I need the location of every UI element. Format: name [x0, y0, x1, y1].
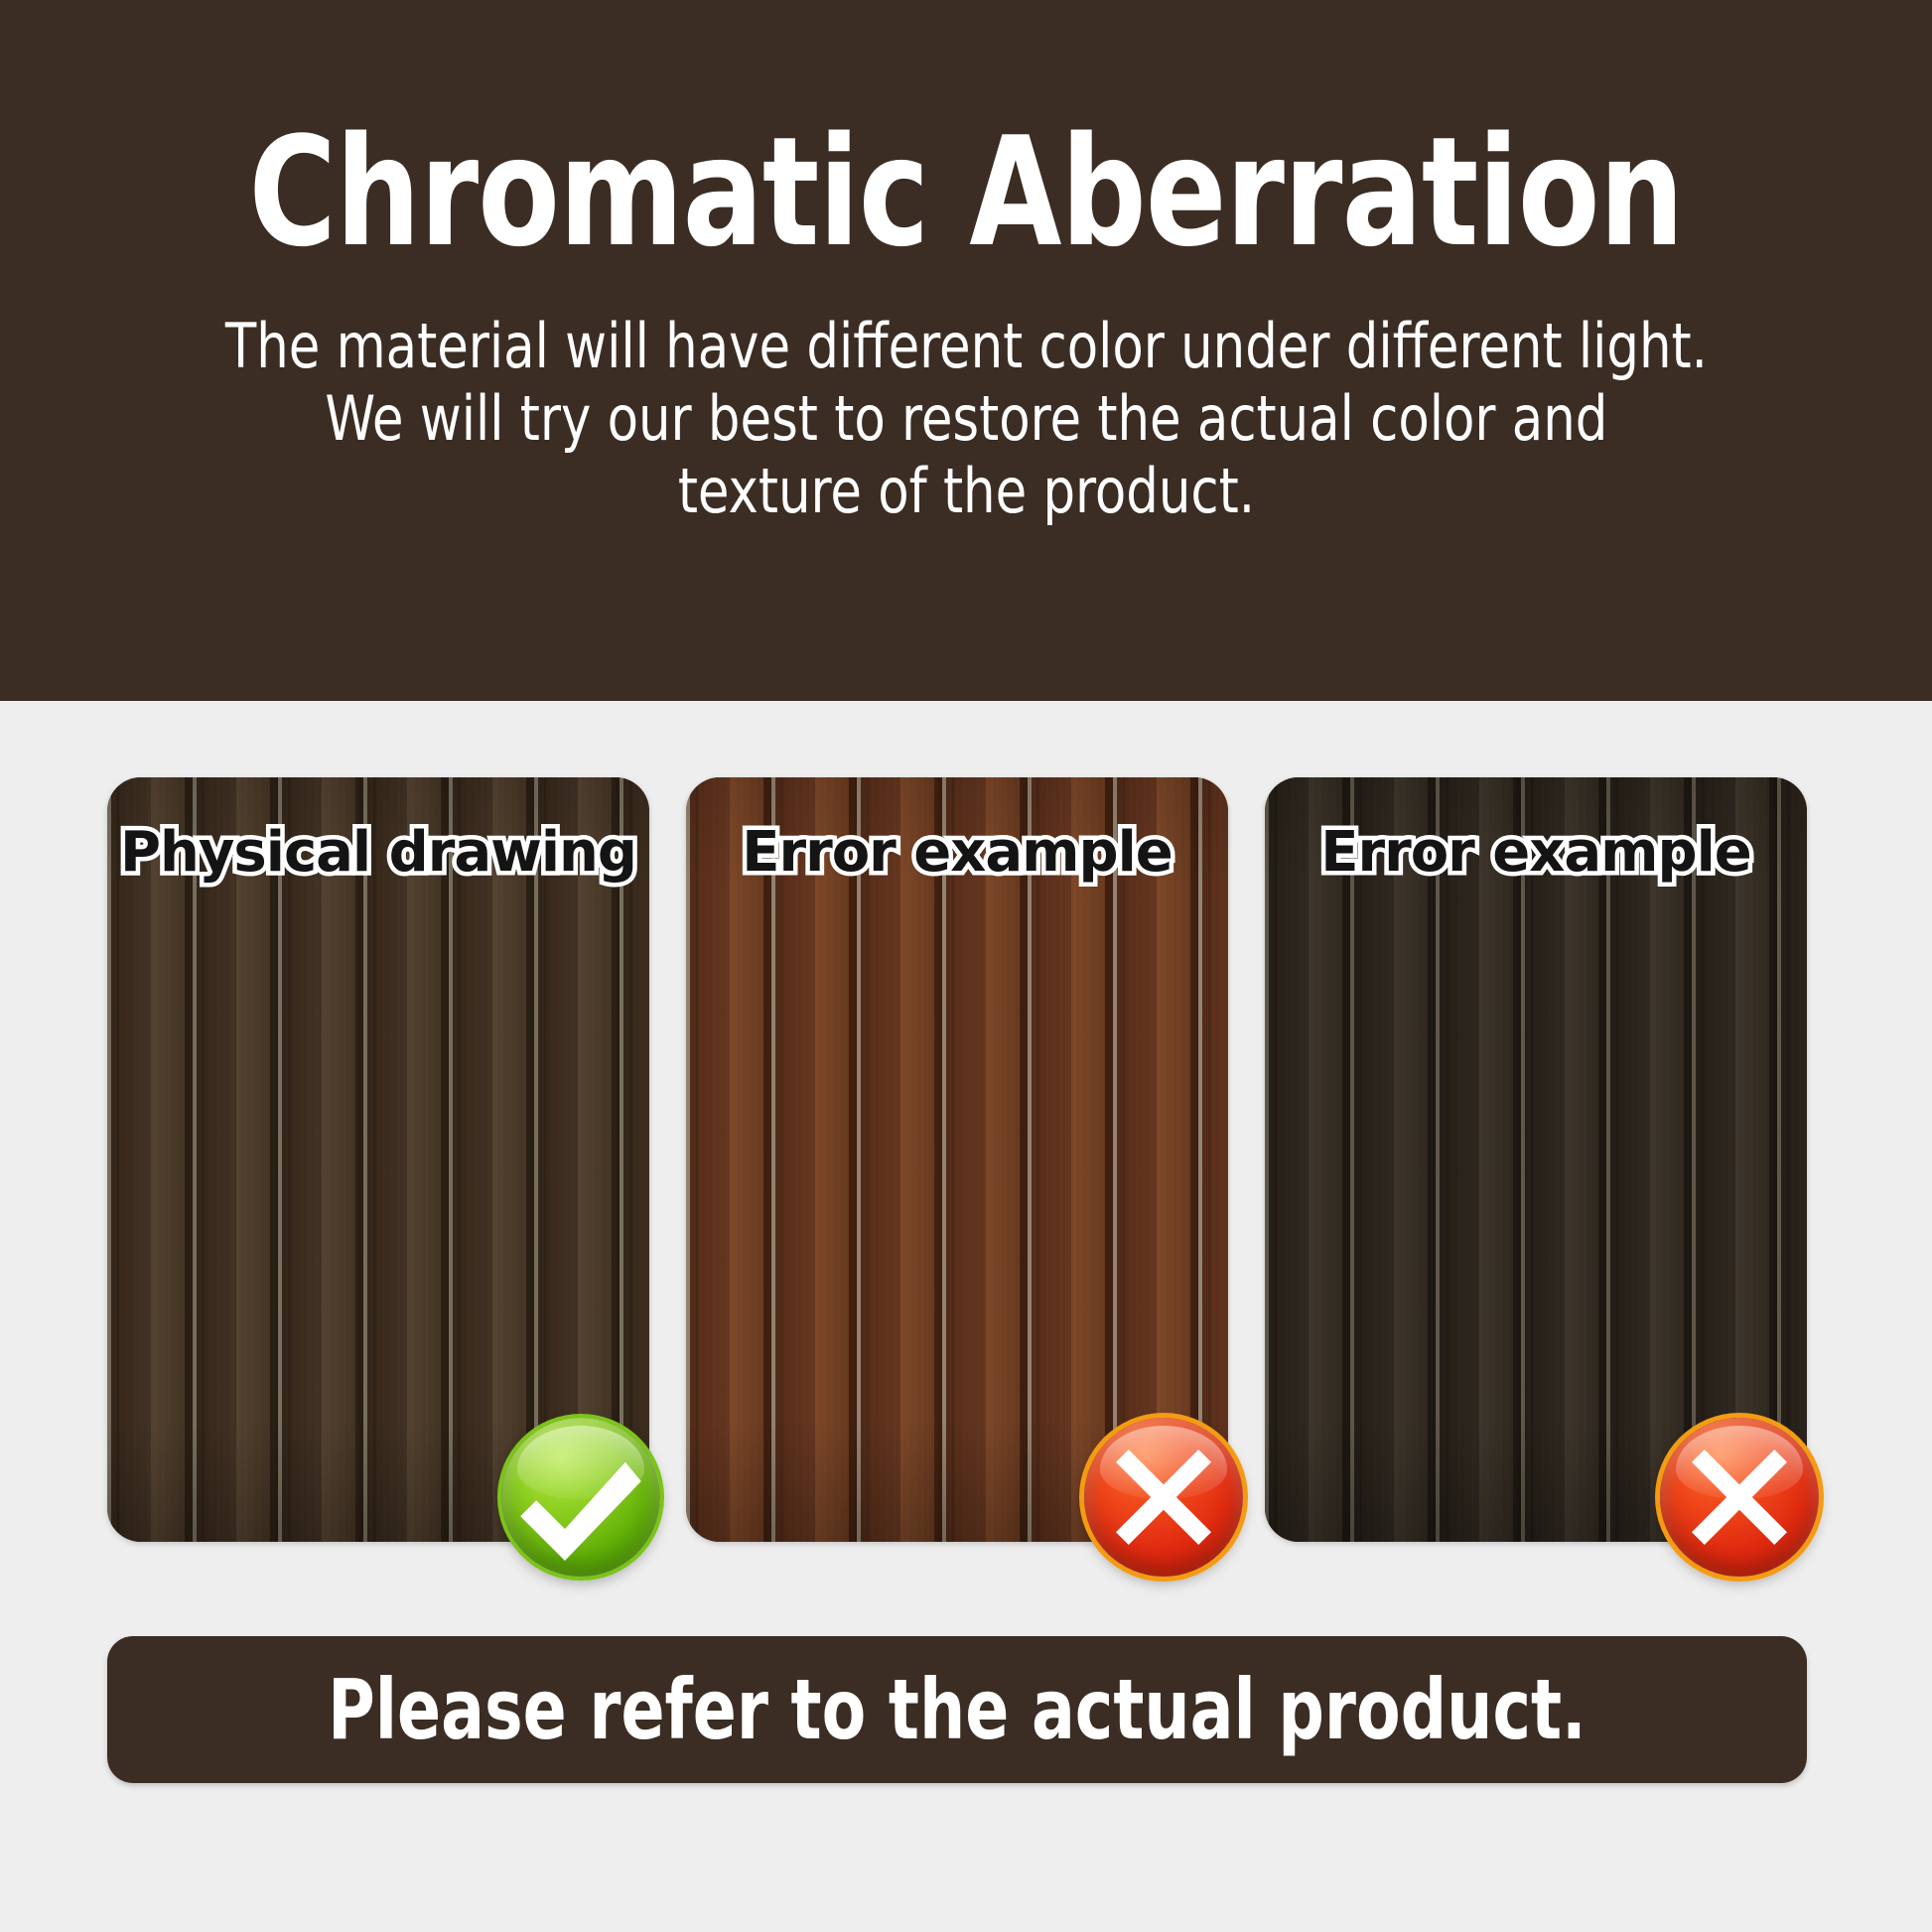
subtitle-line-2: We will try our best to restore the actu… — [225, 382, 1708, 455]
footer-banner: Please refer to the actual product. — [107, 1636, 1807, 1783]
check-glyph — [501, 1418, 660, 1577]
cross-icon — [1084, 1418, 1243, 1577]
card-label-error-example-1: Error example — [686, 825, 1228, 881]
promo-banner-page: Chromatic Aberration The material will h… — [0, 0, 1932, 1932]
page-title: Chromatic Aberration — [249, 117, 1684, 268]
header-subtitle: The material will have different color u… — [225, 310, 1708, 527]
card-label-error-example-2: Error example — [1265, 825, 1807, 881]
card-label-physical-drawing: Physical drawing — [107, 825, 649, 881]
subtitle-line-1: The material will have different color u… — [225, 310, 1708, 382]
comparison-cards-row: Physical drawing Error example Error exa… — [107, 777, 1807, 1542]
footer-banner-text: Please refer to the actual product. — [328, 1668, 1587, 1751]
check-icon — [501, 1418, 660, 1577]
header-section: Chromatic Aberration The material will h… — [0, 0, 1932, 701]
cross-icon — [1660, 1418, 1819, 1577]
cross-glyph — [1084, 1418, 1243, 1577]
cross-glyph — [1660, 1418, 1819, 1577]
subtitle-line-3: texture of the product. — [225, 455, 1708, 527]
